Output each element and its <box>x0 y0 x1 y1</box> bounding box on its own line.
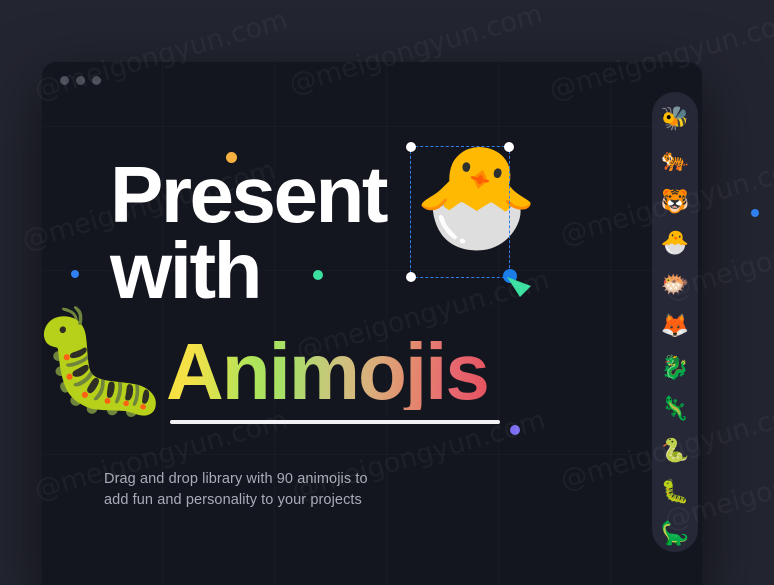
subtitle-line-2: add fun and personality to your projects <box>104 490 368 511</box>
animoji-library-panel[interactable]: 🐝🐅🐯🐣🐡🦊🐉🦎🐍🐛🦕 <box>652 92 698 552</box>
library-item-lizard[interactable]: 🦎 <box>657 392 693 428</box>
resize-handle-top-right[interactable] <box>504 142 514 152</box>
library-item-hatching-chick[interactable]: 🐣 <box>657 226 693 262</box>
grid-line-vertical <box>386 62 387 585</box>
library-item-snake[interactable]: 🐍 <box>657 433 693 469</box>
page-subtitle: Drag and drop library with 90 animojis t… <box>104 469 368 510</box>
screenshot-stage: Present with 🐛 Animojis Drag and drop li… <box>0 0 774 585</box>
grid-line-horizontal <box>42 126 702 127</box>
library-item-fox-face[interactable]: 🦊 <box>657 309 693 345</box>
minimize-window-button[interactable] <box>76 76 85 85</box>
grid-line-vertical <box>610 62 611 585</box>
resize-handle-top-left[interactable] <box>406 142 416 152</box>
caterpillar-emoji: 🐛 <box>42 303 172 424</box>
grid-line-horizontal <box>42 454 702 455</box>
library-item-sauropod[interactable]: 🦕 <box>657 516 693 552</box>
outer-blue-dot <box>751 209 759 217</box>
purple-dot <box>510 425 520 435</box>
library-item-caterpillar[interactable]: 🐛 <box>657 475 693 511</box>
selection-bounding-box[interactable] <box>410 146 510 278</box>
library-item-blowfish[interactable]: 🐡 <box>657 267 693 303</box>
library-item-tiger-face[interactable]: 🐯 <box>657 184 693 220</box>
headline-underline <box>170 420 500 424</box>
drag-cursor <box>502 268 536 302</box>
headline-line-1: Present <box>110 157 386 233</box>
page-title: Present with <box>110 157 386 309</box>
resize-handle-bottom-left[interactable] <box>406 272 416 282</box>
headline-highlight-text: Animojis <box>166 334 488 410</box>
presentation-card: Present with 🐛 Animojis Drag and drop li… <box>42 62 702 585</box>
window-controls[interactable] <box>60 76 101 85</box>
library-item-bee[interactable]: 🐝 <box>657 101 693 137</box>
close-window-button[interactable] <box>60 76 69 85</box>
blue-dot <box>71 270 79 278</box>
subtitle-line-1: Drag and drop library with 90 animojis t… <box>104 469 368 490</box>
maximize-window-button[interactable] <box>92 76 101 85</box>
library-item-dragon[interactable]: 🐉 <box>657 350 693 386</box>
library-item-tiger[interactable]: 🐅 <box>657 143 693 179</box>
headline-highlight: Animojis <box>166 334 488 410</box>
